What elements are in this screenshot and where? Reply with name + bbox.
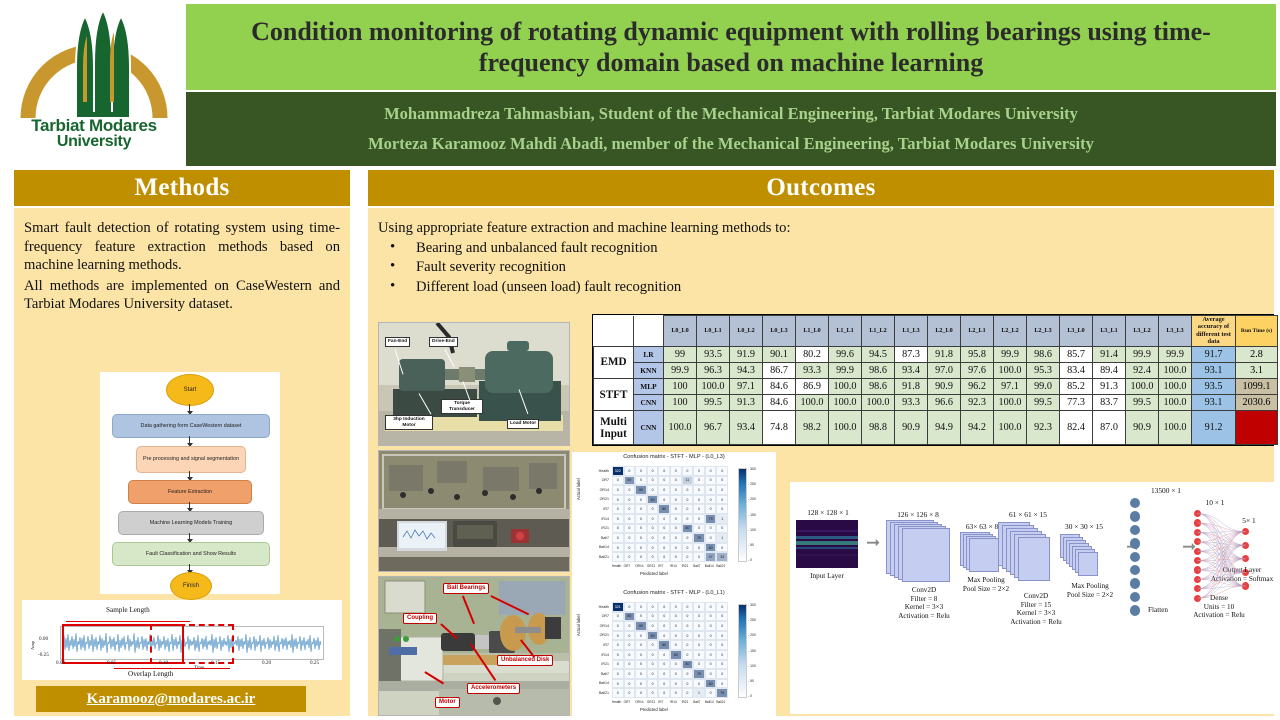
cm-cell: 0 bbox=[705, 688, 717, 698]
cm-cell: 0 bbox=[612, 514, 624, 524]
cm-cell: 0 bbox=[705, 669, 717, 679]
cm-col-label: IR21 bbox=[682, 564, 689, 568]
cm-cell: 0 bbox=[682, 612, 694, 622]
cnn-dense-node bbox=[1194, 538, 1201, 545]
photo-label-accelerometers: Accelerometers bbox=[467, 683, 520, 694]
confusion-matrix-l0-l1: Confusion matrix - STFT - MLP - (L0_L1) … bbox=[572, 580, 776, 716]
cm-cell: 0 bbox=[682, 631, 694, 641]
cm-cell: 79 bbox=[716, 688, 728, 698]
cm-cell: 0 bbox=[624, 504, 636, 514]
cm-cell: 0 bbox=[658, 688, 670, 698]
cell-lr-10: 99.9 bbox=[994, 346, 1027, 362]
signal-xtick-4: 0.20 bbox=[262, 660, 271, 666]
cell-cnn2-10: 100.0 bbox=[994, 411, 1027, 445]
cell-knn-7: 93.4 bbox=[895, 362, 928, 378]
cnn-output-node bbox=[1242, 528, 1249, 535]
cm-row-label: Health bbox=[578, 605, 609, 609]
cm-col-label: Ball14 bbox=[705, 700, 714, 704]
cm-cell: 0 bbox=[693, 679, 705, 689]
cnn-dim-flatten: 13500 × 1 bbox=[1126, 486, 1206, 495]
contact-email-text[interactable]: Karamooz@modares.ac.ir bbox=[87, 691, 256, 708]
cell-cnn2-2: 93.4 bbox=[730, 411, 763, 445]
cm-cell: 0 bbox=[658, 650, 670, 660]
signal-segmentation-plot: Sample Length Amp 0.00 -0.25 0.00 0.05 0… bbox=[22, 600, 342, 680]
cell-lr-3: 90.1 bbox=[763, 346, 796, 362]
cell-cnn1-14: 99.5 bbox=[1126, 395, 1159, 411]
outcomes-section-title: Outcomes bbox=[766, 174, 875, 202]
cell-lr-0: 99 bbox=[664, 346, 697, 362]
cm-cell: 0 bbox=[635, 466, 647, 476]
cm-cell: 0 bbox=[693, 524, 705, 534]
cm-cell: 0 bbox=[716, 504, 728, 514]
row-model-mlp: MLP bbox=[634, 378, 664, 394]
cell-cnn1-12: 77.3 bbox=[1060, 395, 1093, 411]
cnn-dense-node bbox=[1194, 557, 1201, 564]
methods-body-text: Smart fault detection of rotating system… bbox=[24, 219, 340, 316]
cnn-dim-input: 128 × 128 × 1 bbox=[790, 508, 866, 517]
cm-cell: 80 bbox=[658, 504, 670, 514]
cm-cell: 0 bbox=[716, 495, 728, 505]
cnn-flatten-node bbox=[1130, 511, 1140, 521]
row-group-stft: STFT bbox=[594, 378, 634, 410]
cm-cell: 80 bbox=[658, 640, 670, 650]
cnn-flatten-node bbox=[1130, 592, 1140, 602]
cell-lr-5: 99.6 bbox=[829, 346, 862, 362]
cell-cnn1-4: 100.0 bbox=[796, 395, 829, 411]
cm-row-label: Ball7 bbox=[578, 536, 609, 540]
cm-cell: 0 bbox=[658, 621, 670, 631]
col-header-10: L2_L2 bbox=[994, 316, 1027, 347]
signal-ylabel: Amp bbox=[30, 641, 35, 650]
cm-row-label: IR21 bbox=[578, 526, 609, 530]
photo-label-coupling: Coupling bbox=[403, 613, 437, 624]
cm-cell: 0 bbox=[647, 650, 659, 660]
cell-lr-13: 91.4 bbox=[1093, 346, 1126, 362]
cm-cell: 0 bbox=[693, 602, 705, 612]
cm-cell: 0 bbox=[624, 524, 636, 534]
cm-cell: 0 bbox=[693, 514, 705, 524]
table-row: Multi Input CNN 100.0 96.7 93.4 74.8 98.… bbox=[594, 411, 1278, 445]
cm1-grid: 3220000000000690000110000080000000000080… bbox=[612, 466, 728, 562]
cm-cell: 0 bbox=[635, 533, 647, 543]
cm-cell: 0 bbox=[647, 612, 659, 622]
cell-cnn2-6: 98.8 bbox=[862, 411, 895, 445]
poster-title-bar: Condition monitoring of rotating dynamic… bbox=[186, 4, 1276, 90]
cell-cnn2-4: 98.2 bbox=[796, 411, 829, 445]
signal-xtick-2: 0.10 bbox=[159, 660, 168, 666]
cm-cell: 0 bbox=[612, 688, 624, 698]
cm-cell: 0 bbox=[658, 669, 670, 679]
cell-cnn1-9: 92.3 bbox=[961, 395, 994, 411]
table-row: EMD LR 99 93.5 91.9 90.1 80.2 99.6 94.5 … bbox=[594, 346, 1278, 362]
cell-lr-2: 91.9 bbox=[730, 346, 763, 362]
cell-mlp-10: 97.1 bbox=[994, 378, 1027, 394]
cm-cell: 0 bbox=[658, 533, 670, 543]
cm-cell: 0 bbox=[624, 533, 636, 543]
table-row: KNN 99.9 96.3 94.3 86.7 93.3 99.9 98.6 9… bbox=[594, 362, 1278, 378]
cm-cell: 0 bbox=[716, 669, 728, 679]
cm-cell: 0 bbox=[705, 621, 717, 631]
cm-col-label: Health bbox=[612, 564, 621, 568]
cell-knn-11: 95.3 bbox=[1027, 362, 1060, 378]
cm-cell: 0 bbox=[693, 543, 705, 553]
cm-cell: 1 bbox=[716, 514, 728, 524]
cm-row-label: Ball7 bbox=[578, 672, 609, 676]
cm-cell: 0 bbox=[635, 660, 647, 670]
methods-section-header: Methods bbox=[14, 170, 350, 206]
cm-cell: 0 bbox=[624, 640, 636, 650]
cm-row-label: OR21 bbox=[578, 497, 609, 501]
cm-colorbar-tick: - 50 bbox=[748, 543, 754, 547]
cell-mlp-2: 97.1 bbox=[730, 378, 763, 394]
cm-cell: 0 bbox=[658, 495, 670, 505]
cm-cell: 0 bbox=[670, 621, 682, 631]
cell-knn-1: 96.3 bbox=[697, 362, 730, 378]
cm-colorbar-tick: - 200 bbox=[748, 633, 756, 637]
cell-cnn1-6: 100.0 bbox=[862, 395, 895, 411]
flow-node-start: Start bbox=[166, 374, 214, 406]
cm-cell: 0 bbox=[670, 688, 682, 698]
cm-cell: 0 bbox=[647, 669, 659, 679]
cm-colorbar-tick: - 50 bbox=[748, 679, 754, 683]
casewestern-test-rig-photo: Fan-End Drive-End Torque Transducer 3hp … bbox=[378, 322, 570, 446]
cm-cell: 0 bbox=[705, 602, 717, 612]
cm-cell: 0 bbox=[716, 524, 728, 534]
cm-cell: 0 bbox=[682, 650, 694, 660]
cm-cell: 0 bbox=[612, 552, 624, 562]
flow-node-model-training: Machine Learning Models Training bbox=[118, 511, 264, 535]
cnn-output-node bbox=[1242, 582, 1249, 589]
cm-cell: 0 bbox=[682, 621, 694, 631]
cm-cell: 0 bbox=[612, 543, 624, 553]
cm-cell: 0 bbox=[624, 485, 636, 495]
cm-cell: 0 bbox=[635, 688, 647, 698]
photo-label-load-motor: Load Motor bbox=[507, 419, 539, 429]
cm-cell: 322 bbox=[612, 466, 624, 476]
cell-cnn1-13: 83.7 bbox=[1093, 395, 1126, 411]
cm-colorbar-tick: - 0 bbox=[748, 558, 752, 562]
cm-cell: 0 bbox=[647, 466, 659, 476]
cell-mlp-6: 98.6 bbox=[862, 378, 895, 394]
cm-cell: 0 bbox=[635, 650, 647, 660]
cnn-dense-node bbox=[1194, 585, 1201, 592]
cm-col-label: Ball21 bbox=[716, 564, 725, 568]
cm-cell: 0 bbox=[612, 524, 624, 534]
cnn-architecture-diagram: 128 × 128 × 1 Input Layer ➞ 126 × 126 × … bbox=[790, 482, 1276, 714]
cm-cell: 0 bbox=[693, 504, 705, 514]
cm-cell: 0 bbox=[624, 679, 636, 689]
cm-cell: 0 bbox=[716, 602, 728, 612]
cm-cell: 0 bbox=[705, 640, 717, 650]
signal-xtick-0: 0.00 bbox=[56, 660, 65, 666]
row-group-multi-input: Multi Input bbox=[594, 411, 634, 445]
cm-col-label: IR14 bbox=[670, 564, 677, 568]
cm-cell: 0 bbox=[658, 552, 670, 562]
cm-cell: 0 bbox=[716, 631, 728, 641]
overlap-window-dashed bbox=[150, 624, 234, 664]
cell-cnn2-15: 100.0 bbox=[1159, 411, 1192, 445]
cm-cell: 0 bbox=[670, 640, 682, 650]
cell-mlp-runtime: 1099.1 bbox=[1236, 378, 1278, 394]
cm-cell: 80 bbox=[635, 621, 647, 631]
cm-cell: 0 bbox=[670, 602, 682, 612]
cm-cell: 0 bbox=[705, 476, 717, 486]
university-logo: Tarbiat Modares University bbox=[14, 6, 174, 166]
cell-cnn2-8: 94.9 bbox=[928, 411, 961, 445]
cell-mlp-5: 100.0 bbox=[829, 378, 862, 394]
cell-lr-9: 95.8 bbox=[961, 346, 994, 362]
cnn-output-node bbox=[1242, 542, 1249, 549]
cm-cell: 0 bbox=[658, 679, 670, 689]
cm-cell: 0 bbox=[682, 485, 694, 495]
col-header-4: L1_L0 bbox=[796, 316, 829, 347]
cm-cell: 0 bbox=[635, 524, 647, 534]
cell-cnn1-average: 93.1 bbox=[1192, 395, 1236, 411]
author-line-2: Morteza Karamooz Mahdi Abadi, member of … bbox=[368, 129, 1094, 159]
cm-cell: 0 bbox=[670, 552, 682, 562]
cm-cell: 0 bbox=[670, 485, 682, 495]
cm-cell: 0 bbox=[624, 495, 636, 505]
cm-cell: 0 bbox=[647, 485, 659, 495]
cell-mlp-12: 85.2 bbox=[1060, 378, 1093, 394]
cm-cell: 0 bbox=[716, 485, 728, 495]
cm-colorbar-tick: - 300 bbox=[748, 603, 756, 607]
cm-row-label: Ball14 bbox=[578, 545, 609, 549]
cm-cell: 0 bbox=[716, 650, 728, 660]
cm-cell: 0 bbox=[682, 669, 694, 679]
cm1-xlabel: Predicted label bbox=[640, 571, 668, 576]
cnn-dense-node bbox=[1194, 566, 1201, 573]
cm-col-label: Ball7 bbox=[693, 700, 700, 704]
table-row: CNN 100 99.5 91.3 84.6 100.0 100.0 100.0… bbox=[594, 395, 1278, 411]
cm-row-label: IR7 bbox=[578, 507, 609, 511]
cell-lr-14: 99.9 bbox=[1126, 346, 1159, 362]
cell-cnn1-8: 96.6 bbox=[928, 395, 961, 411]
cm-cell: 0 bbox=[658, 660, 670, 670]
cnn-flatten-node bbox=[1130, 525, 1140, 535]
cell-cnn2-0: 100.0 bbox=[664, 411, 697, 445]
col-header-2: L0_L2 bbox=[730, 316, 763, 347]
row-model-cnn-multi: CNN bbox=[634, 411, 664, 445]
cm-cell: 0 bbox=[624, 466, 636, 476]
authors-bar: Mohammadreza Tahmasbian, Student of the … bbox=[186, 92, 1276, 166]
cm-cell: 0 bbox=[693, 552, 705, 562]
cm-colorbar-tick: - 100 bbox=[748, 664, 756, 668]
cm-cell: 0 bbox=[635, 602, 647, 612]
cm-cell: 0 bbox=[624, 514, 636, 524]
flow-node-finish: Finish bbox=[170, 572, 212, 600]
cm-cell: 0 bbox=[670, 514, 682, 524]
cm-cell: 0 bbox=[647, 679, 659, 689]
cm-cell: 0 bbox=[635, 640, 647, 650]
cm-cell: 0 bbox=[647, 543, 659, 553]
flow-node-feature-extraction: Feature Extraction bbox=[128, 480, 252, 504]
cm1-title: Confusion matrix - STFT - MLP - (L0_L3) bbox=[572, 454, 776, 460]
cm-cell: 0 bbox=[705, 466, 717, 476]
cm2-grid: 3210000000000800000000000800000000000800… bbox=[612, 602, 728, 698]
cm-row-label: IR14 bbox=[578, 517, 609, 521]
cm-col-label: Ball21 bbox=[716, 700, 725, 704]
cm-cell: 1 bbox=[716, 533, 728, 543]
cell-knn-4: 93.3 bbox=[796, 362, 829, 378]
cell-cnn2-13: 87.0 bbox=[1093, 411, 1126, 445]
cell-knn-3: 86.7 bbox=[763, 362, 796, 378]
table-corner-cell bbox=[594, 316, 634, 347]
cm-cell: 0 bbox=[682, 640, 694, 650]
cm-cell: 0 bbox=[624, 631, 636, 641]
cell-cnn1-0: 100 bbox=[664, 395, 697, 411]
cm-colorbar-tick: - 0 bbox=[748, 694, 752, 698]
col-header-8: L2_L0 bbox=[928, 316, 961, 347]
cm-cell: 0 bbox=[647, 640, 659, 650]
cm-cell: 0 bbox=[612, 631, 624, 641]
cm-col-label: OR21 bbox=[647, 564, 655, 568]
cm-cell: 0 bbox=[647, 552, 659, 562]
cell-cnn2-14: 90.9 bbox=[1126, 411, 1159, 445]
cm-cell: 80 bbox=[670, 650, 682, 660]
overlap-length-label: Overlap Length bbox=[128, 670, 173, 678]
cell-cnn1-2: 91.3 bbox=[730, 395, 763, 411]
cm-row-label: Ball21 bbox=[578, 691, 609, 695]
cnn-dim-conv1: 126 × 126 × 8 bbox=[874, 510, 962, 519]
cnn-dense-node bbox=[1194, 529, 1201, 536]
cell-knn-6: 98.6 bbox=[862, 362, 895, 378]
cm-cell: 0 bbox=[647, 533, 659, 543]
sample-length-label: Sample Length bbox=[106, 606, 150, 614]
cm-cell: 0 bbox=[612, 679, 624, 689]
cm2-xlabel: Predicted label bbox=[640, 707, 668, 712]
cell-cnn1-15: 100.0 bbox=[1159, 395, 1192, 411]
cm-cell: 0 bbox=[670, 543, 682, 553]
cm-cell: 0 bbox=[647, 514, 659, 524]
sample-length-arrow bbox=[66, 621, 190, 622]
cm-col-label: OR7 bbox=[624, 700, 631, 704]
cm-cell: 0 bbox=[624, 602, 636, 612]
cm-cell: 0 bbox=[612, 669, 624, 679]
photo-label-ball-bearings: Ball Bearings bbox=[443, 583, 489, 594]
cell-cnn1-5: 100.0 bbox=[829, 395, 862, 411]
cell-knn-15: 100.0 bbox=[1159, 362, 1192, 378]
col-header-15: L3_L3 bbox=[1159, 316, 1192, 347]
cnn-label-dense: Dense Units = 10 Activation = Relu bbox=[1186, 594, 1252, 620]
contact-email-button[interactable]: Karamooz@modares.ac.ir bbox=[36, 686, 306, 712]
cm-cell: 0 bbox=[647, 621, 659, 631]
cell-lr-8: 91.8 bbox=[928, 346, 961, 362]
cnn-dense-node bbox=[1194, 548, 1201, 555]
cm-row-label: Health bbox=[578, 469, 609, 473]
cnn-conv1-stack bbox=[886, 520, 956, 582]
cm-cell: 0 bbox=[693, 631, 705, 641]
cnn-dense-node bbox=[1194, 510, 1201, 517]
cm-cell: 0 bbox=[624, 552, 636, 562]
cm-cell: 80 bbox=[705, 543, 717, 553]
photo-label-drive-end: Drive-End bbox=[429, 337, 458, 347]
cm-cell: 0 bbox=[670, 660, 682, 670]
cm-row-label: OR14 bbox=[578, 488, 609, 492]
poster-title: Condition monitoring of rotating dynamic… bbox=[201, 16, 1261, 78]
cm2-title: Confusion matrix - STFT - MLP - (L0_L1) bbox=[572, 590, 776, 596]
cm-cell: 0 bbox=[716, 640, 728, 650]
cell-knn-5: 99.9 bbox=[829, 362, 862, 378]
results-table: L0_L0 L0_L1 L0_L2 L0_L3 L1_L0 L1_L1 L1_L… bbox=[593, 315, 1278, 445]
cm-cell: 0 bbox=[705, 660, 717, 670]
cnn-dim-dense: 10 × 1 bbox=[1190, 498, 1240, 507]
cell-cnn2-7: 90.9 bbox=[895, 411, 928, 445]
cell-cnn1-3: 84.6 bbox=[763, 395, 796, 411]
cm-cell: 0 bbox=[693, 612, 705, 622]
cm-cell: 0 bbox=[670, 476, 682, 486]
cm-cell: 0 bbox=[658, 514, 670, 524]
cm-row-label: IR7 bbox=[578, 643, 609, 647]
cnn-output-node bbox=[1242, 555, 1249, 562]
cell-mlp-13: 91.3 bbox=[1093, 378, 1126, 394]
signal-xtick-1: 0.05 bbox=[107, 660, 116, 666]
cm-colorbar-tick: - 150 bbox=[748, 649, 756, 653]
cell-mlp-7: 91.8 bbox=[895, 378, 928, 394]
cell-mlp-15: 100.0 bbox=[1159, 378, 1192, 394]
cm-col-label: OR14 bbox=[635, 564, 643, 568]
cm-cell: 0 bbox=[716, 612, 728, 622]
cell-knn-9: 97.6 bbox=[961, 362, 994, 378]
col-header-14: L3_L2 bbox=[1126, 316, 1159, 347]
cm-cell: 0 bbox=[635, 514, 647, 524]
cell-cnn2-9: 94.2 bbox=[961, 411, 994, 445]
signal-ytick-1: -0.25 bbox=[38, 652, 49, 658]
outcomes-bullet-2: Fault severity recognition bbox=[378, 258, 938, 278]
flow-node-preprocessing: Pre processing and signal segmentation bbox=[136, 446, 246, 473]
cm-cell: 0 bbox=[670, 679, 682, 689]
cm-cell: 0 bbox=[624, 669, 636, 679]
cm-cell: 80 bbox=[624, 612, 636, 622]
cm-cell: 0 bbox=[647, 660, 659, 670]
cm-cell: 0 bbox=[612, 533, 624, 543]
photo-label-induction-motor: 3hp Induction Motor bbox=[385, 415, 433, 430]
cm-cell: 0 bbox=[635, 504, 647, 514]
cm-cell: 0 bbox=[682, 466, 694, 476]
cnn-dense-node bbox=[1194, 519, 1201, 526]
cm-cell: 79 bbox=[693, 533, 705, 543]
cm-row-label: OR14 bbox=[578, 624, 609, 628]
cm-cell: 0 bbox=[670, 524, 682, 534]
laboratory-setup-photo bbox=[378, 450, 570, 572]
photo-label-unbalanced-disk: Unbalanced Disk bbox=[497, 655, 553, 666]
cm-cell: 0 bbox=[693, 660, 705, 670]
cnn-flatten-node bbox=[1130, 552, 1140, 562]
cm-cell: 0 bbox=[682, 543, 694, 553]
cell-cnn2-average: 91.2 bbox=[1192, 411, 1236, 445]
signal-ytick-0: 0.00 bbox=[39, 636, 48, 642]
cell-knn-2: 94.3 bbox=[730, 362, 763, 378]
cell-cnn2-1: 96.7 bbox=[697, 411, 730, 445]
cm-cell: 0 bbox=[705, 533, 717, 543]
cm-cell: 0 bbox=[635, 669, 647, 679]
cell-knn-10: 100.0 bbox=[994, 362, 1027, 378]
cnn-label-flatten: Flatten bbox=[1130, 606, 1186, 615]
cm-cell: 0 bbox=[716, 621, 728, 631]
cell-mlp-3: 84.6 bbox=[763, 378, 796, 394]
cnn-dim-conv2: 61 × 61 × 15 bbox=[986, 510, 1070, 519]
cm-cell: 0 bbox=[705, 504, 717, 514]
col-header-5: L1_L1 bbox=[829, 316, 862, 347]
cell-mlp-9: 96.2 bbox=[961, 378, 994, 394]
cell-lr-1: 93.5 bbox=[697, 346, 730, 362]
cell-knn-0: 99.9 bbox=[664, 362, 697, 378]
cm-col-label: Ball7 bbox=[693, 564, 700, 568]
cm-cell: 0 bbox=[682, 602, 694, 612]
cm-cell: 0 bbox=[670, 631, 682, 641]
methods-paragraph-1: Smart fault detection of rotating system… bbox=[24, 219, 340, 275]
cnn-flatten-node bbox=[1130, 498, 1140, 508]
